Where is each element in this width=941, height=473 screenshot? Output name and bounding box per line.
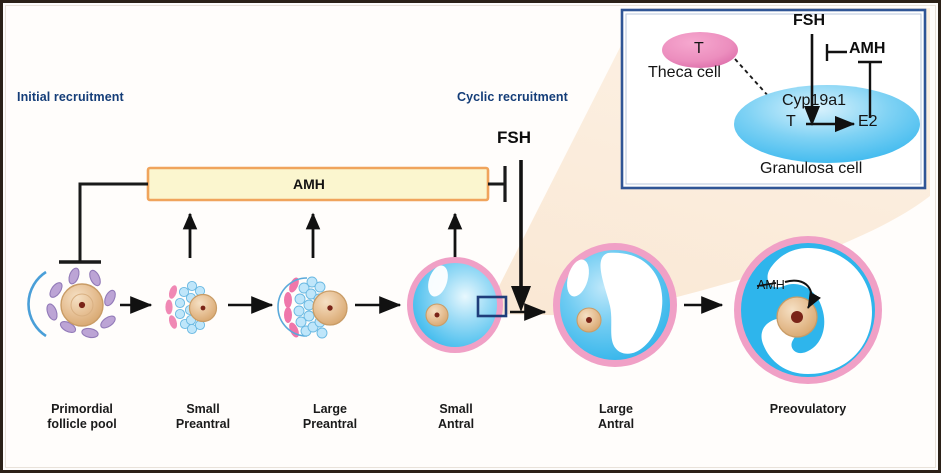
figure-canvas: Initial recruitment Cyclic recruitment A… xyxy=(0,0,941,473)
figure-outer-frame xyxy=(0,0,941,473)
